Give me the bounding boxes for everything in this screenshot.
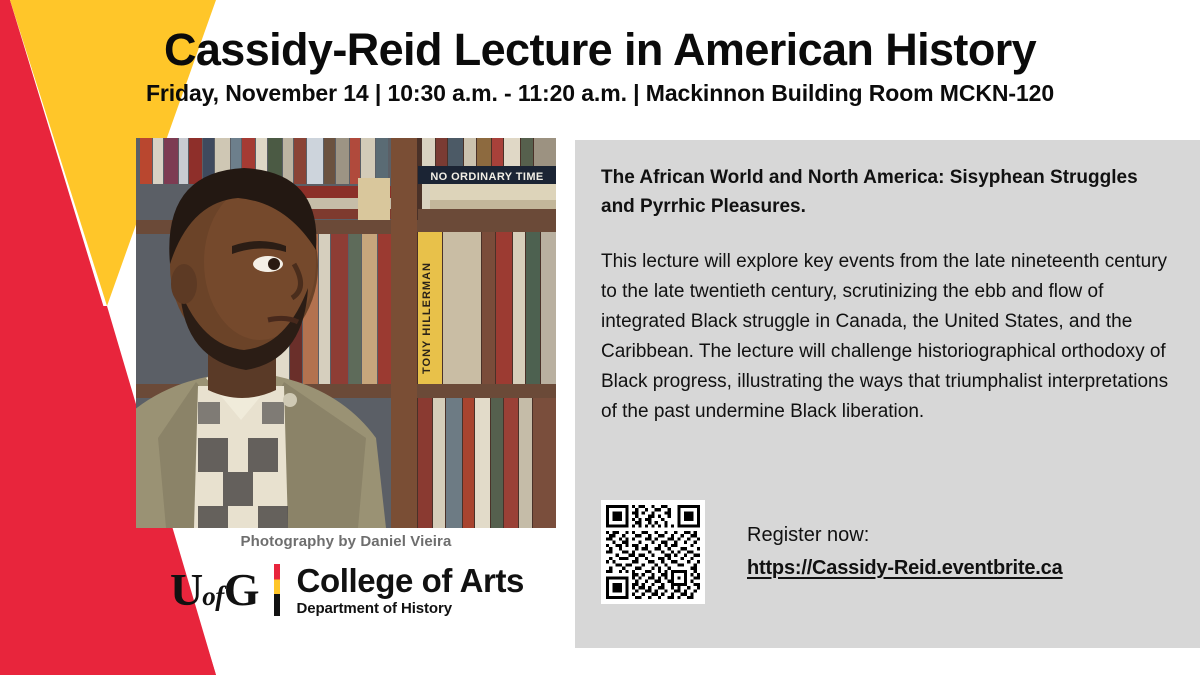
- logo-department-name: Department of History: [297, 601, 524, 616]
- logo-divider-bar: [274, 564, 280, 616]
- event-poster: Cassidy-Reid Lecture in American History…: [0, 0, 1200, 675]
- logo-college-name: College of Arts: [297, 564, 524, 597]
- logo-unit-text: College of Arts Department of History: [297, 564, 524, 616]
- registration-link[interactable]: https://Cassidy-Reid.eventbrite.ca: [747, 555, 1063, 582]
- uofg-letter-u: U: [170, 564, 202, 615]
- abstract-body: This lecture will explore key events fro…: [601, 247, 1174, 427]
- register-now-label: Register now:: [747, 522, 1063, 549]
- speaker-photo: NO ORDINARY TIME TONY HILLERMAN: [136, 138, 556, 528]
- uofg-word-of: of: [202, 581, 224, 611]
- poster-header: Cassidy-Reid Lecture in American History…: [0, 26, 1200, 107]
- abstract-title: The African World and North America: Sis…: [601, 164, 1161, 221]
- abstract-panel-content: The African World and North America: Sis…: [575, 140, 1200, 427]
- qr-code-icon[interactable]: [601, 500, 705, 604]
- registration-text: Register now: https://Cassidy-Reid.event…: [747, 522, 1063, 582]
- abstract-panel: The African World and North America: Sis…: [575, 140, 1200, 648]
- svg-text:NO ORDINARY TIME: NO ORDINARY TIME: [430, 171, 543, 183]
- event-details-line: Friday, November 14 | 10:30 a.m. - 11:20…: [0, 80, 1200, 107]
- registration-block: Register now: https://Cassidy-Reid.event…: [601, 500, 1063, 604]
- uofg-wordmark: UofG: [170, 567, 259, 613]
- svg-text:TONY HILLERMAN: TONY HILLERMAN: [421, 262, 433, 374]
- photo-credit: Photography by Daniel Vieira: [136, 533, 556, 550]
- uofg-letter-g: G: [224, 564, 259, 615]
- uofg-college-of-arts-logo: UofG College of Arts Department of Histo…: [170, 561, 524, 619]
- page-title: Cassidy-Reid Lecture in American History: [0, 26, 1200, 73]
